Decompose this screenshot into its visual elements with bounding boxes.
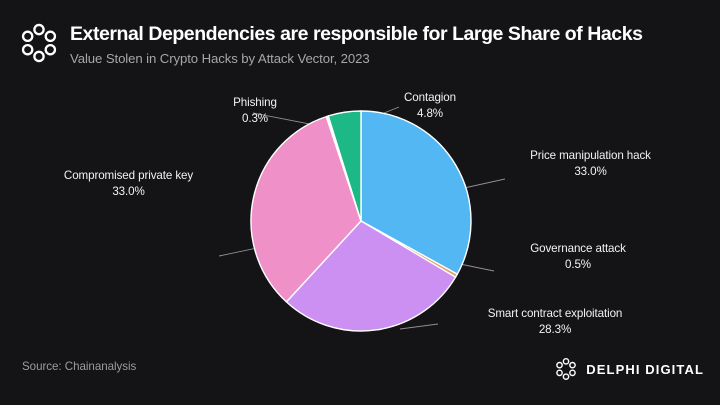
source-note: Source: Chainanalysis — [22, 360, 136, 373]
pie-label-phishing-value: 0.3% — [180, 111, 330, 127]
pie-label-phishing: Phishing 0.3% — [180, 95, 330, 126]
delphi-ring-logo-icon — [18, 22, 60, 64]
pie-slices — [251, 111, 471, 331]
pie-label-price-manipulation-hack-name: Price manipulation hack — [483, 148, 698, 164]
delphi-ring-logo-icon — [554, 357, 578, 381]
pie-label-compromised-private-key-name: Compromised private key — [36, 168, 221, 184]
pie-label-compromised-private-key: Compromised private key 33.0% — [36, 168, 221, 199]
pie-chart-area: Phishing 0.3% Contagion 4.8% Price manip… — [0, 78, 720, 348]
pie-label-price-manipulation-hack: Price manipulation hack 33.0% — [483, 148, 698, 179]
chart-screenshot: External Dependencies are responsible fo… — [0, 0, 720, 405]
pie-label-smart-contract-exploitation: Smart contract exploitation 28.3% — [430, 306, 680, 337]
pie-label-phishing-name: Phishing — [180, 95, 330, 111]
title-block: External Dependencies are responsible fo… — [70, 22, 710, 68]
page-subtitle: Value Stolen in Crypto Hacks by Attack V… — [70, 50, 710, 68]
pie-label-contagion-name: Contagion — [350, 90, 510, 106]
pie-label-price-manipulation-hack-value: 33.0% — [483, 164, 698, 180]
chart-header: External Dependencies are responsible fo… — [0, 0, 720, 86]
pie-label-contagion: Contagion 4.8% — [350, 90, 510, 121]
pie-label-contagion-value: 4.8% — [350, 106, 510, 122]
page-title: External Dependencies are responsible fo… — [70, 22, 710, 46]
pie-label-governance-attack: Governance attack 0.5% — [478, 241, 678, 272]
pie-label-compromised-private-key-value: 33.0% — [36, 184, 221, 200]
chart-footer: Source: Chainanalysis DELPHI DIGITAL — [0, 348, 720, 405]
pie-label-smart-contract-exploitation-name: Smart contract exploitation — [430, 306, 680, 322]
footer-brand-text: DELPHI DIGITAL — [586, 362, 704, 377]
footer-brand: DELPHI DIGITAL — [554, 356, 704, 382]
pie-label-smart-contract-exploitation-value: 28.3% — [430, 322, 680, 338]
pie-label-governance-attack-name: Governance attack — [478, 241, 678, 257]
pie-label-governance-attack-value: 0.5% — [478, 257, 678, 273]
